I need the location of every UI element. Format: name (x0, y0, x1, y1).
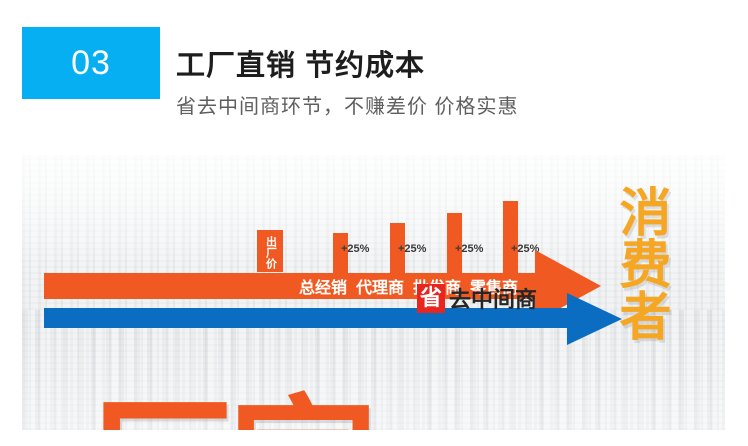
page-subtitle: 省去中间商环节，不赚差价 价格实惠 (176, 90, 519, 119)
skip-badge: 省 (417, 284, 445, 313)
section-header: 03 工厂直销 节约成本 省去中间商环节，不赚差价 价格实惠 (0, 0, 748, 150)
page-title: 工厂直销 节约成本 (176, 42, 425, 84)
consumer-label: 消费者 (607, 185, 667, 341)
markup-label-3: +25% (455, 243, 483, 255)
middleman-name-1: 总经销 (299, 274, 347, 298)
hero-word-factory: 厂家 (84, 393, 372, 430)
factory-price-label: 出厂价 (257, 231, 283, 273)
section-number-badge: 03 (22, 27, 160, 99)
skip-middleman-callout: 省 去中间商 (417, 282, 537, 314)
markup-bar-4 (503, 201, 518, 273)
markup-label-1: +25% (341, 243, 369, 255)
skip-text: 去中间商 (449, 282, 537, 314)
hero-banner: 出厂价 +25% +25% +25% +25% 总经销 代理商 批发商 零售商 … (22, 155, 725, 430)
markup-label-2: +25% (398, 243, 426, 255)
middleman-name-2: 代理商 (356, 274, 404, 298)
